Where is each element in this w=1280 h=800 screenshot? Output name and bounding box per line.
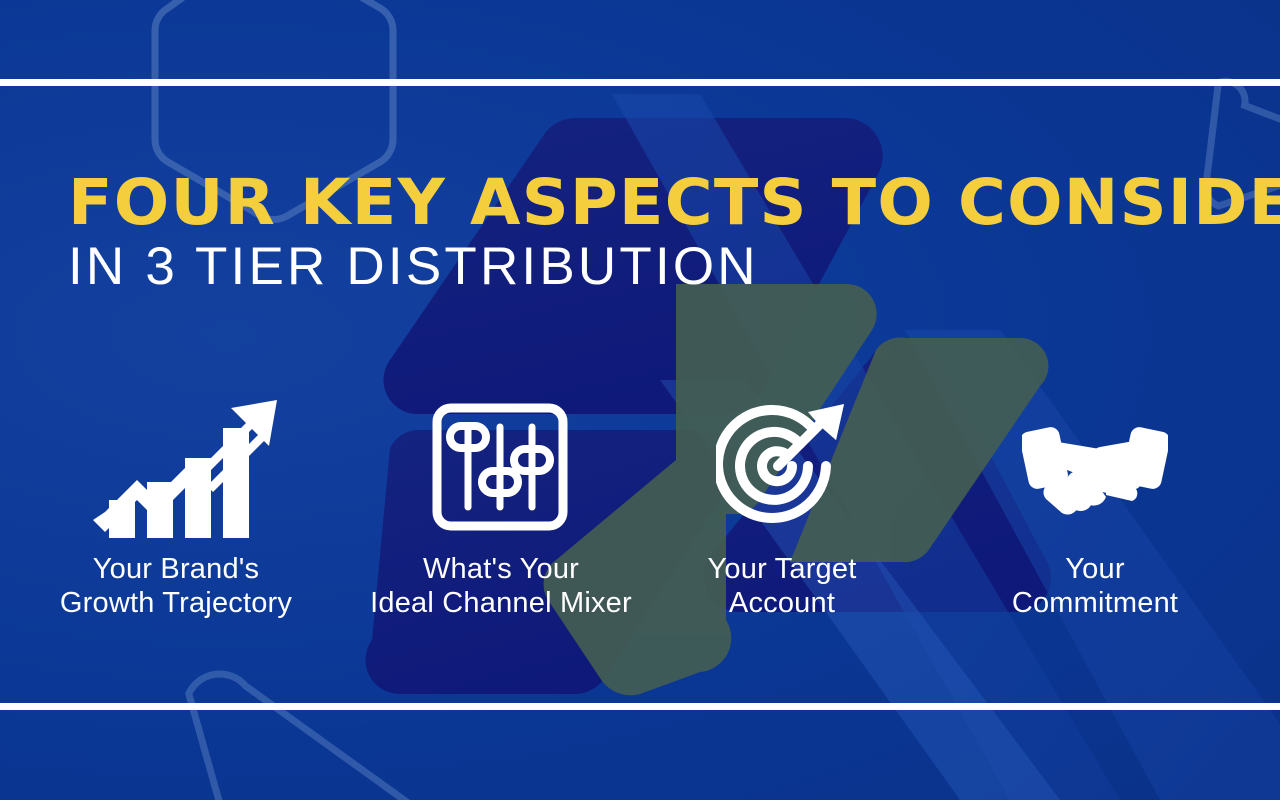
handshake-icon (1022, 415, 1168, 519)
aspect-card-growth-trajectory[interactable]: Your Brand's Growth Trajectory (0, 392, 352, 622)
headline-block: FOUR KEY ASPECTS TO CONSIDER IN 3 TIER D… (68, 172, 1248, 294)
aspect-label: Your Commitment (1012, 552, 1178, 620)
slide-canvas: FOUR KEY ASPECTS TO CONSIDER IN 3 TIER D… (0, 0, 1280, 800)
aspect-label: What's Your Ideal Channel Mixer (370, 552, 632, 620)
page-title: FOUR KEY ASPECTS TO CONSIDER (68, 172, 1280, 234)
icon-container (91, 392, 277, 542)
aspect-label: Your Brand's Growth Trajectory (60, 552, 292, 620)
aspect-card-channel-mixer[interactable]: What's Your Ideal Channel Mixer (352, 392, 652, 622)
page-subtitle: IN 3 TIER DISTRIBUTION (68, 240, 1248, 294)
aspects-row: Your Brand's Growth Trajectory (0, 392, 1280, 622)
aspect-card-commitment[interactable]: Your Commitment (912, 392, 1280, 622)
channel-mixer-sliders-icon (430, 401, 570, 533)
aspect-label: Your Target Account (708, 552, 857, 620)
target-bullseye-arrow-icon (716, 404, 848, 530)
icon-container (1022, 392, 1168, 542)
growth-chart-icon (91, 396, 277, 538)
top-divider-rule (0, 79, 1280, 86)
bottom-divider-rule (0, 703, 1280, 710)
icon-container (716, 392, 848, 542)
aspect-card-target-account[interactable]: Your Target Account (652, 392, 912, 622)
icon-container (430, 392, 570, 542)
